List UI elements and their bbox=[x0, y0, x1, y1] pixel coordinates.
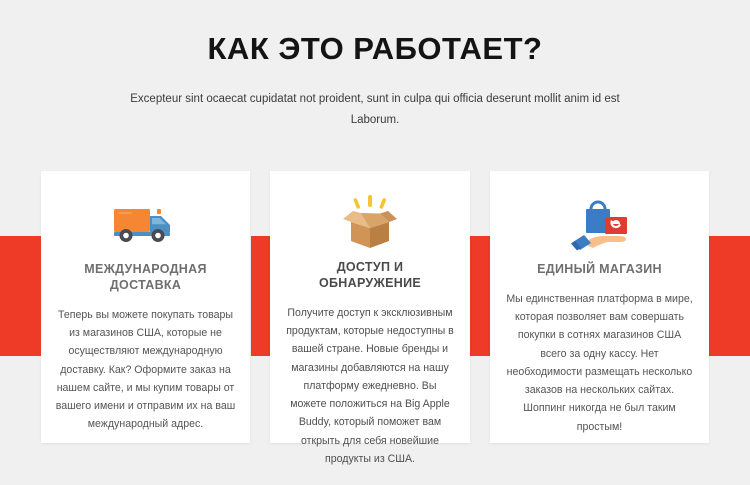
shopping-bags-hand-icon bbox=[567, 195, 633, 253]
feature-card-body: Получите доступ к эксклюзивным продуктам… bbox=[284, 304, 456, 468]
feature-cards-row: МЕЖДУНАРОДНАЯ ДОСТАВКА Теперь вы можете … bbox=[41, 171, 709, 443]
feature-card-body: Теперь вы можете покупать товары из мага… bbox=[55, 306, 236, 434]
accent-bar-left bbox=[0, 236, 41, 356]
feature-card-one-stop-shop[interactable]: ЕДИНЫЙ МАГАЗИН Мы единственная платформа… bbox=[490, 171, 709, 443]
feature-card-international-delivery[interactable]: МЕЖДУНАРОДНАЯ ДОСТАВКА Теперь вы можете … bbox=[41, 171, 250, 443]
feature-card-body: Мы единственная платформа в мире, котора… bbox=[504, 290, 695, 436]
page-title: КАК ЭТО РАБОТАЕТ? bbox=[0, 31, 750, 67]
feature-card-heading: МЕЖДУНАРОДНАЯ ДОСТАВКА bbox=[55, 261, 236, 293]
page-header: КАК ЭТО РАБОТАЕТ? Excepteur sint ocaecat… bbox=[0, 0, 750, 131]
feature-card-heading: ДОСТУП И ОБНАРУЖЕНИЕ bbox=[284, 259, 456, 291]
feature-card-access-discovery[interactable]: ДОСТУП И ОБНАРУЖЕНИЕ Получите доступ к э… bbox=[270, 171, 470, 443]
open-box-icon bbox=[339, 195, 401, 251]
feature-card-heading: ЕДИНЫЙ МАГАЗИН bbox=[537, 261, 662, 277]
delivery-truck-icon bbox=[112, 195, 180, 253]
accent-bar-right bbox=[709, 236, 750, 356]
page-subtitle: Excepteur sint ocaecat cupidatat not pro… bbox=[115, 89, 635, 132]
